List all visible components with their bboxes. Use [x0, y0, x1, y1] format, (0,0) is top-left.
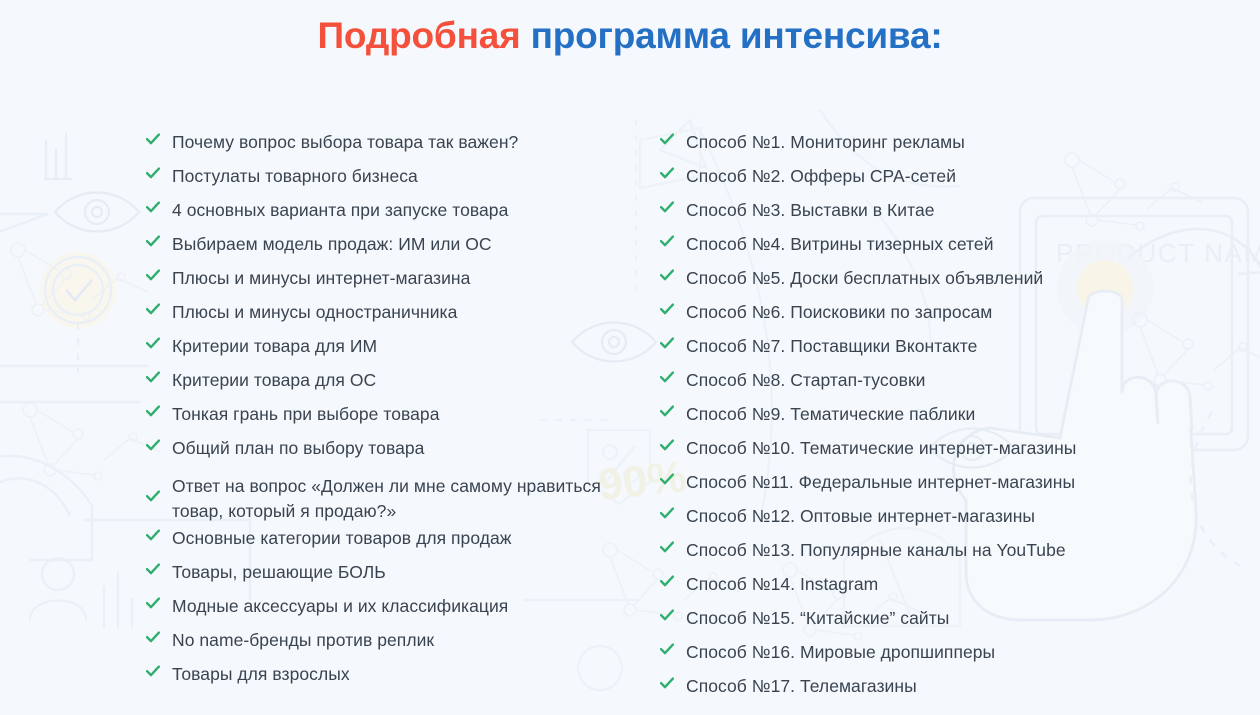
- list-item: Товары для взрослых: [146, 663, 633, 697]
- list-item: 4 основных варианта при запуске товара: [146, 199, 633, 233]
- list-item: Модные аксессуары и их классификация: [146, 595, 633, 629]
- check-icon: [660, 438, 674, 460]
- list-item: Способ №6. Поисковики по запросам: [660, 301, 1130, 335]
- list-item-label: Товары, решающие БОЛЬ: [172, 561, 386, 583]
- list-item-label: Почему вопрос выбора товара так важен?: [172, 131, 518, 153]
- list-item-label: Способ №11. Федеральные интернет-магазин…: [686, 471, 1075, 493]
- check-icon: [660, 336, 674, 358]
- list-item-label: Ответ на вопрос «Должен ли мне самому нр…: [172, 474, 633, 524]
- list-item-label: Способ №13. Популярные каналы на YouTube: [686, 539, 1066, 561]
- check-icon: [146, 404, 160, 426]
- check-icon: [660, 200, 674, 222]
- list-item-label: Способ №12. Оптовые интернет-магазины: [686, 505, 1035, 527]
- check-icon: [146, 438, 160, 460]
- check-icon: [146, 528, 160, 550]
- list-item-label: Критерии товара для ИМ: [172, 335, 377, 357]
- list-item: Способ №1. Мониторинг рекламы: [660, 131, 1130, 165]
- list-item-label: Выбираем модель продаж: ИМ или ОС: [172, 233, 492, 255]
- list-item: Способ №14. Instagram: [660, 573, 1130, 607]
- list-item: Основные категории товаров для продаж: [146, 527, 633, 561]
- list-item: Способ №12. Оптовые интернет-магазины: [660, 505, 1130, 539]
- check-icon: [146, 596, 160, 618]
- list-item: Способ №16. Мировые дропшипперы: [660, 641, 1130, 675]
- list-item: Тонкая грань при выборе товара: [146, 403, 633, 437]
- page-title: Подробная программа интенсива:: [0, 13, 1260, 58]
- check-icon: [660, 166, 674, 188]
- list-item-label: Модные аксессуары и их классификация: [172, 595, 508, 617]
- list-item-label: Критерии товара для ОС: [172, 369, 376, 391]
- list-item-label: Способ №5. Доски бесплатных объявлений: [686, 267, 1043, 289]
- list-item-label: 4 основных варианта при запуске товара: [172, 199, 508, 221]
- list-item-label: Способ №14. Instagram: [686, 573, 878, 595]
- list-item: Плюсы и минусы одностраничника: [146, 301, 633, 335]
- page-title-rest: программа интенсива:: [531, 15, 943, 56]
- list-item: Критерии товара для ОС: [146, 369, 633, 403]
- list-item-label: Способ №3. Выставки в Китае: [686, 199, 935, 221]
- list-item-label: No name-бренды против реплик: [172, 629, 434, 651]
- left-column-list: Почему вопрос выбора товара так важен?По…: [146, 131, 633, 709]
- list-item: Товары, решающие БОЛЬ: [146, 561, 633, 595]
- list-item-label: Способ №1. Мониторинг рекламы: [686, 131, 965, 153]
- check-icon: [660, 268, 674, 290]
- list-item-label: Способ №6. Поисковики по запросам: [686, 301, 992, 323]
- check-icon: [146, 489, 160, 511]
- list-item-label: Способ №2. Офферы CPA-сетей: [686, 165, 956, 187]
- list-item: Способ №10. Тематические интернет-магази…: [660, 437, 1130, 471]
- check-icon: [146, 200, 160, 222]
- list-item: Способ №15. “Китайские” сайты: [660, 607, 1130, 641]
- list-item: Способ №4. Витрины тизерных сетей: [660, 233, 1130, 267]
- check-icon: [146, 302, 160, 324]
- list-item: No name-бренды против реплик: [146, 629, 633, 663]
- list-item: Почему вопрос выбора товара так важен?: [146, 131, 633, 165]
- list-item: Способ №3. Выставки в Китае: [660, 199, 1130, 233]
- check-icon: [660, 676, 674, 698]
- list-item-label: Плюсы и минусы одностраничника: [172, 301, 457, 323]
- list-item-label: Тонкая грань при выборе товара: [172, 403, 439, 425]
- check-icon: [660, 132, 674, 154]
- right-column-list: Способ №1. Мониторинг рекламыСпособ №2. …: [660, 131, 1130, 709]
- check-icon: [660, 472, 674, 494]
- check-icon: [660, 370, 674, 392]
- page-title-accent: Подробная: [318, 15, 521, 56]
- list-item: Способ №9. Тематические паблики: [660, 403, 1130, 437]
- list-item: Способ №13. Популярные каналы на YouTube: [660, 539, 1130, 573]
- list-item-label: Способ №10. Тематические интернет-магази…: [686, 437, 1076, 459]
- list-item-label: Способ №9. Тематические паблики: [686, 403, 975, 425]
- check-icon: [660, 574, 674, 596]
- check-icon: [660, 540, 674, 562]
- list-item: Выбираем модель продаж: ИМ или ОС: [146, 233, 633, 267]
- list-item: Способ №17. Телемагазины: [660, 675, 1130, 709]
- check-icon: [660, 302, 674, 324]
- check-icon: [660, 608, 674, 630]
- check-icon: [660, 642, 674, 664]
- list-item: Способ №5. Доски бесплатных объявлений: [660, 267, 1130, 301]
- list-item: Способ №11. Федеральные интернет-магазин…: [660, 471, 1130, 505]
- program-columns: Почему вопрос выбора товара так важен?По…: [0, 131, 1260, 709]
- check-icon: [146, 664, 160, 686]
- list-item-label: Общий план по выбору товара: [172, 437, 424, 459]
- list-item: Критерии товара для ИМ: [146, 335, 633, 369]
- check-icon: [660, 404, 674, 426]
- list-item-label: Товары для взрослых: [172, 663, 350, 685]
- check-icon: [146, 370, 160, 392]
- list-item: Общий план по выбору товара: [146, 437, 633, 471]
- list-item-label: Основные категории товаров для продаж: [172, 527, 512, 549]
- list-item-label: Способ №17. Телемагазины: [686, 675, 917, 697]
- list-item: Способ №8. Стартап-тусовки: [660, 369, 1130, 403]
- check-icon: [146, 268, 160, 290]
- check-icon: [146, 562, 160, 584]
- check-icon: [146, 166, 160, 188]
- check-icon: [146, 336, 160, 358]
- list-item: Постулаты товарного бизнеса: [146, 165, 633, 199]
- list-item-label: Плюсы и минусы интернет-магазина: [172, 267, 470, 289]
- program-page: Подробная программа интенсива: Почему во…: [0, 0, 1260, 715]
- list-item: Способ №7. Поставщики Вконтакте: [660, 335, 1130, 369]
- list-item-label: Способ №4. Витрины тизерных сетей: [686, 233, 994, 255]
- list-item-label: Постулаты товарного бизнеса: [172, 165, 418, 187]
- check-icon: [146, 630, 160, 652]
- check-icon: [146, 234, 160, 256]
- list-item: Плюсы и минусы интернет-магазина: [146, 267, 633, 301]
- list-item-label: Способ №15. “Китайские” сайты: [686, 607, 949, 629]
- list-item: Способ №2. Офферы CPA-сетей: [660, 165, 1130, 199]
- list-item-label: Способ №7. Поставщики Вконтакте: [686, 335, 977, 357]
- list-item-label: Способ №8. Стартап-тусовки: [686, 369, 926, 391]
- list-item-label: Способ №16. Мировые дропшипперы: [686, 641, 995, 663]
- check-icon: [146, 132, 160, 154]
- check-icon: [660, 506, 674, 528]
- list-item: Ответ на вопрос «Должен ли мне самому нр…: [146, 471, 633, 527]
- check-icon: [660, 234, 674, 256]
